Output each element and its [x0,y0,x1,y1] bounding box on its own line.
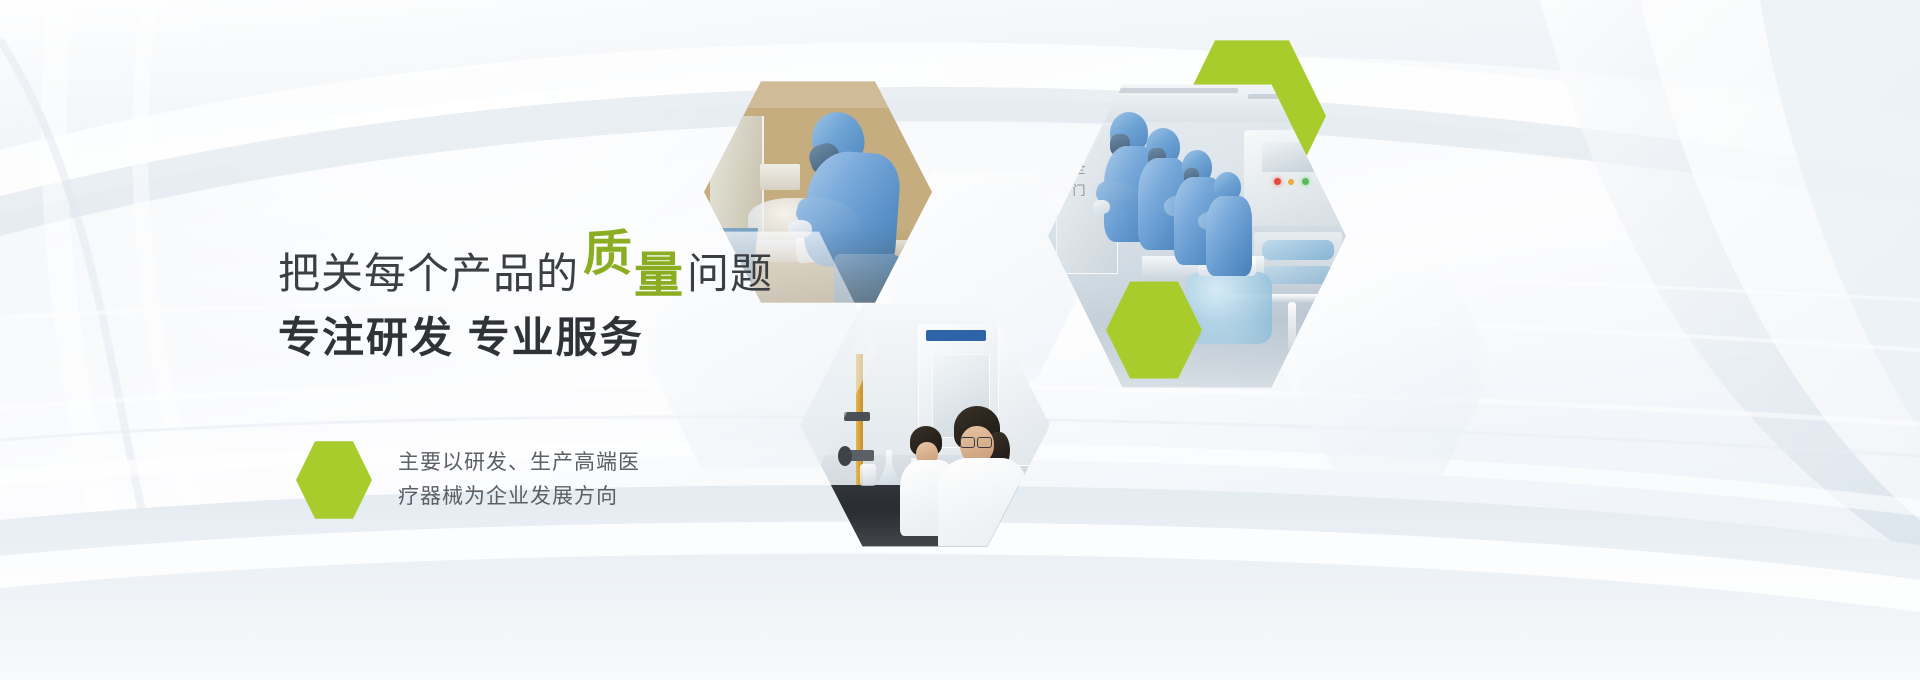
subtitle-block: 主要以研发、生产高端医 疗器械为企业发展方向 [296,440,716,520]
subtitle-line-2: 疗器械为企业发展方向 [398,480,640,514]
headline-plain-before: 把关每个产品的 [278,253,579,295]
glasses-icon [960,437,975,448]
headline-line-2: 专注研发 专业服务 [278,317,718,359]
subtitle-line-1: 主要以研发、生产高端医 [398,446,640,480]
headline-line-1: 把关每个产品的 质 量 问题 [278,246,718,295]
headline-block: 把关每个产品的 质 量 问题 专注研发 专业服务 [278,246,718,359]
headline-accent-liang: 量 [634,252,683,301]
headline-plain-after: 问题 [687,253,773,295]
hero-banner: 安全门 [0,0,1920,680]
glasses-icon [977,437,992,448]
bullet-hexagon-icon [296,440,372,520]
subtitle-text: 主要以研发、生产高端医 疗器械为企业发展方向 [398,446,640,514]
headline-accent-zhi: 质 [583,230,632,279]
